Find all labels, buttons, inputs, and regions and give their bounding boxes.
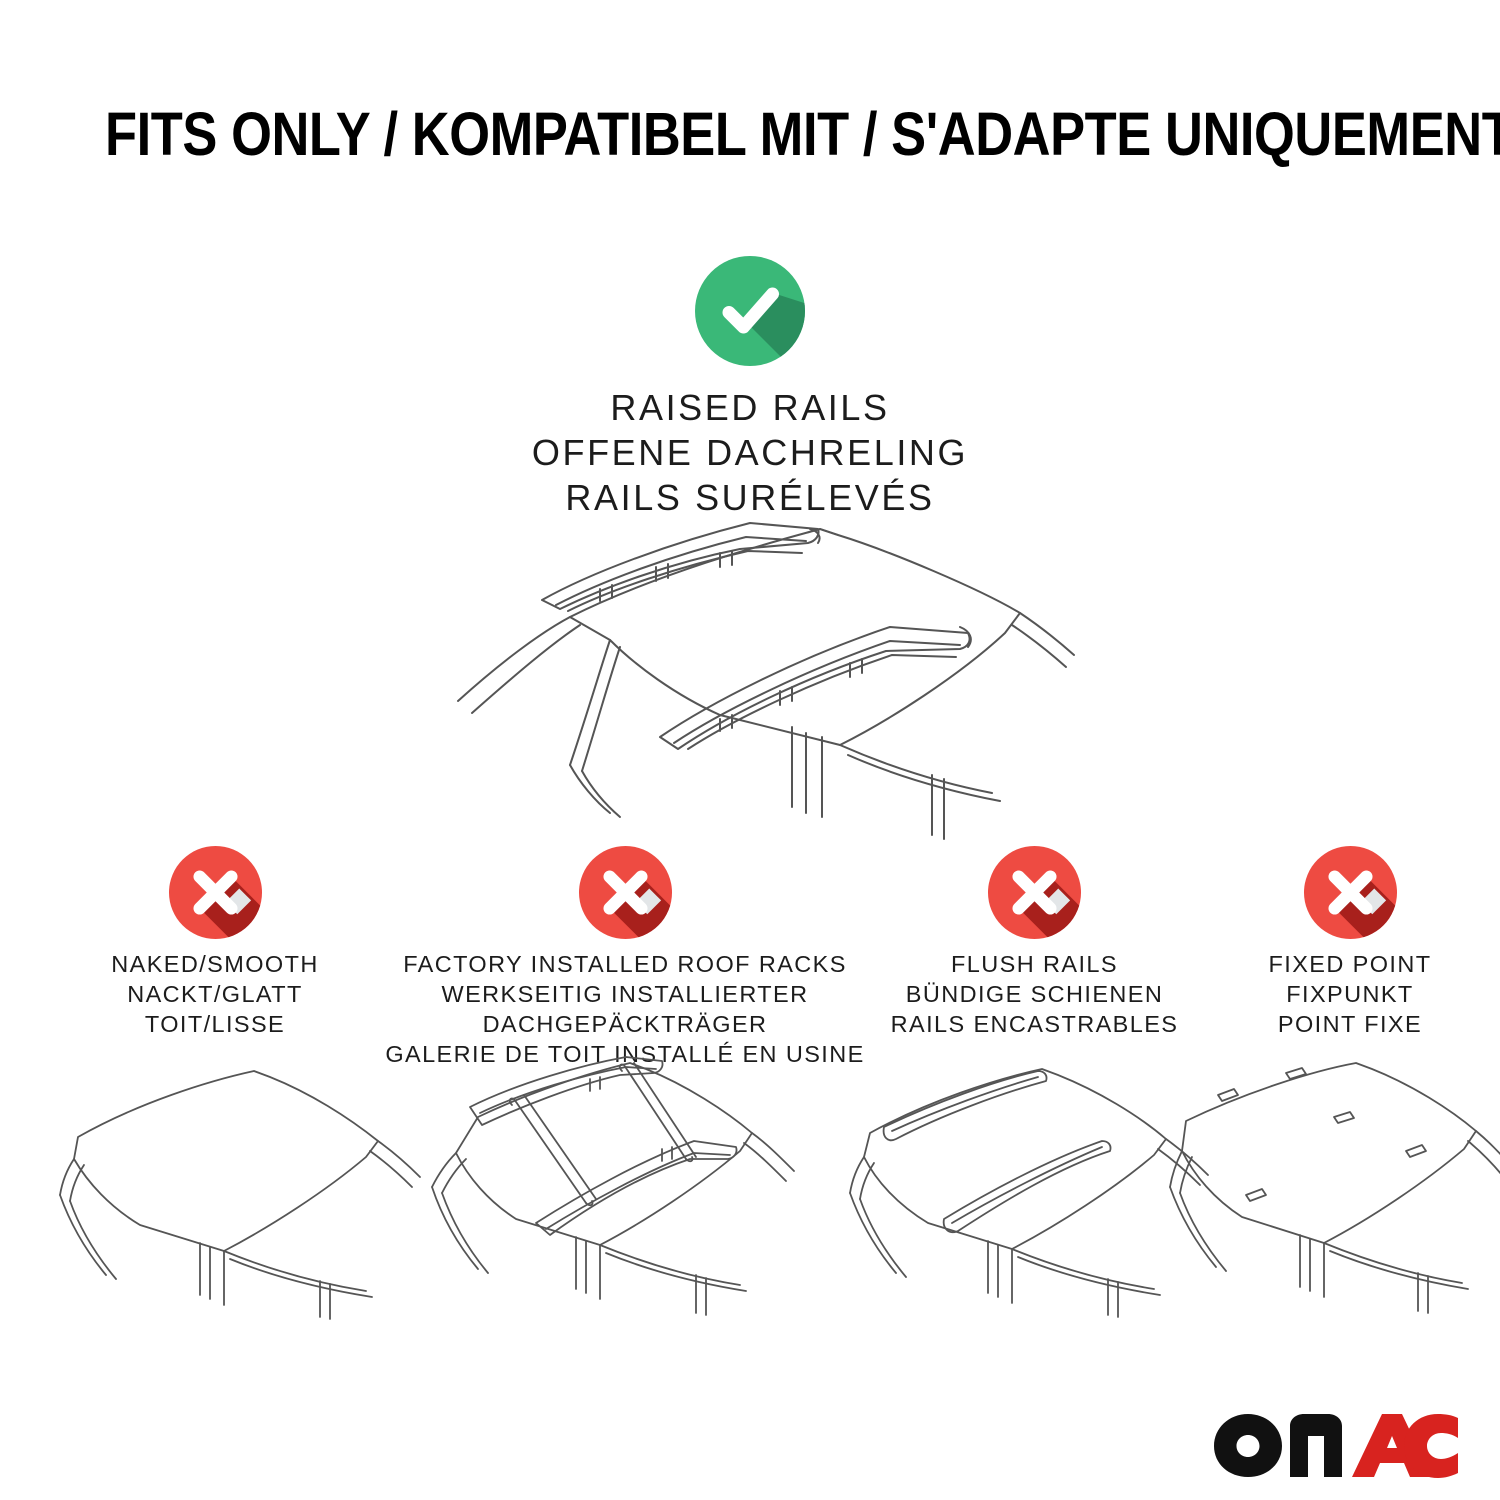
compatible-section: RAISED RAILS OFFENE DACHRELING RAILS SUR… (0, 255, 1500, 520)
incompatible-label-fr: RAILS ENCASTRABLES (891, 1009, 1179, 1039)
car-roof-naked-illustration (48, 1055, 438, 1320)
cross-circle-icon (987, 845, 1082, 940)
compatible-label-en: RAISED RAILS (532, 385, 968, 430)
car-roof-factory-racks-illustration (418, 1055, 808, 1320)
incompatible-label-de2: DACHGEPÄCKTRÄGER (385, 1009, 864, 1039)
incompatible-item-naked-smooth: NAKED/SMOOTH NACKT/GLATT TOIT/LISSE (40, 845, 390, 1039)
incompatible-label-de: BÜNDIGE SCHIENEN (891, 979, 1179, 1009)
incompatible-labels: FACTORY INSTALLED ROOF RACKS WERKSEITIG … (385, 949, 864, 1069)
incompatible-label-fr: POINT FIXE (1269, 1009, 1432, 1039)
incompatible-labels: FLUSH RAILS BÜNDIGE SCHIENEN RAILS ENCAS… (891, 949, 1179, 1039)
cross-circle-icon (578, 845, 673, 940)
incompatible-label-de: NACKT/GLATT (111, 979, 318, 1009)
cross-circle-icon (168, 845, 263, 940)
incompatible-item-fixed-point: FIXED POINT FIXPUNKT POINT FIXE (1215, 845, 1485, 1039)
cross-circle-icon (1303, 845, 1398, 940)
car-roof-fixed-point-illustration (1162, 1055, 1500, 1320)
compatible-label-de: OFFENE DACHRELING (532, 430, 968, 475)
incompatible-labels: NAKED/SMOOTH NACKT/GLATT TOIT/LISSE (111, 949, 318, 1039)
car-roof-raised-rails-illustration (420, 505, 1092, 845)
incompatible-label-de: FIXPUNKT (1269, 979, 1432, 1009)
omac-logo (1212, 1412, 1460, 1478)
incompatible-item-flush-rails: FLUSH RAILS BÜNDIGE SCHIENEN RAILS ENCAS… (862, 845, 1207, 1039)
page-title: FITS ONLY / KOMPATIBEL MIT / S'ADAPTE UN… (105, 98, 1395, 170)
incompatible-labels: FIXED POINT FIXPUNKT POINT FIXE (1269, 949, 1432, 1039)
check-circle-icon (694, 255, 806, 367)
incompatible-label-fr: TOIT/LISSE (111, 1009, 318, 1039)
incompatible-item-factory-roof-racks: FACTORY INSTALLED ROOF RACKS WERKSEITIG … (400, 845, 850, 1069)
incompatible-label-en: FACTORY INSTALLED ROOF RACKS (385, 949, 864, 979)
incompatible-illustrations (0, 1055, 1500, 1320)
incompatible-label-en: NAKED/SMOOTH (111, 949, 318, 979)
incompatible-label-de: WERKSEITIG INSTALLIERTER (385, 979, 864, 1009)
incompatible-label-en: FIXED POINT (1269, 949, 1432, 979)
compatible-labels: RAISED RAILS OFFENE DACHRELING RAILS SUR… (532, 385, 968, 520)
incompatible-label-en: FLUSH RAILS (891, 949, 1179, 979)
